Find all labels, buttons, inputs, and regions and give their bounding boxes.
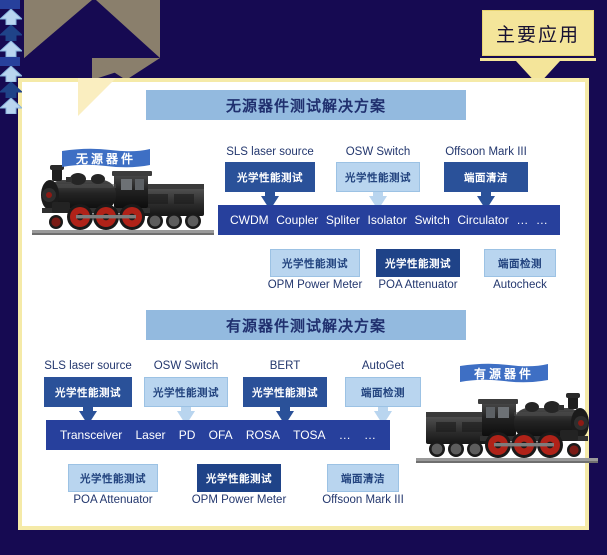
component-active-5: TOSA: [293, 428, 325, 442]
test-box-passive-top-2-label: 端面清洁: [464, 170, 508, 185]
arrow-up-icon: [0, 25, 22, 41]
instrument-caption-bottom-2: Autocheck: [430, 279, 607, 291]
instrument-caption-active-bottom-2: Offsoon Mark III: [273, 494, 453, 506]
test-box-passive-bottom-0[interactable]: 光学性能测试: [270, 249, 360, 277]
bar-connector-active: [0, 57, 20, 66]
test-box-active-top-2[interactable]: 光学性能测试: [243, 377, 327, 407]
test-box-active-top-0[interactable]: 光学性能测试: [44, 377, 132, 407]
component-active-0: Transceiver: [60, 428, 122, 442]
test-box-active-bottom-2-label: 端面清洁: [341, 471, 385, 486]
instrument-caption-offsoon-mark-iii: Offsoon Mark III: [396, 146, 576, 158]
component-active-2: PD: [179, 428, 196, 442]
test-box-active-bottom-2[interactable]: 端面清洁: [327, 464, 399, 492]
component-bar-passive: CWDMCouplerSpliterIsolatorSwitchCirculat…: [218, 205, 560, 235]
test-box-active-top-1-label: 光学性能测试: [153, 385, 219, 400]
diagram-stage: 无源器件测试解决方案: [0, 0, 607, 555]
section-title-passive: 无源器件测试解决方案: [226, 95, 386, 116]
instrument-caption-active-top-3: AutoGet: [293, 360, 473, 372]
component-active-7: …: [364, 428, 376, 442]
arrow-up-icon: [0, 66, 22, 82]
locomotive-tag-active-label: 有源器件: [474, 365, 534, 382]
test-box-passive-bottom-1-label: 光学性能测试: [385, 256, 451, 271]
component-active-4: ROSA: [246, 428, 280, 442]
section-header-passive: 无源器件测试解决方案: [146, 90, 466, 120]
arrow-up-icon: [0, 98, 22, 114]
test-box-passive-bottom-2[interactable]: 端面检测: [484, 249, 556, 277]
locomotive-tag-passive: 无源器件: [60, 147, 152, 169]
section-title-active: 有源器件测试解决方案: [226, 315, 386, 336]
component-6: …: [516, 213, 528, 227]
locomotive-active: [408, 380, 607, 471]
component-4: Switch: [414, 213, 449, 227]
test-box-passive-top-0[interactable]: 光学性能测试: [225, 162, 315, 192]
arrow-up-icon: [0, 41, 22, 57]
test-box-active-bottom-0[interactable]: 光学性能测试: [68, 464, 158, 492]
component-7: …: [536, 213, 548, 227]
test-box-active-top-0-label: 光学性能测试: [55, 385, 121, 400]
test-box-passive-bottom-1[interactable]: 光学性能测试: [376, 249, 460, 277]
test-box-passive-bottom-0-label: 光学性能测试: [282, 256, 348, 271]
test-box-active-top-3-label: 端面检测: [361, 385, 405, 400]
component-active-1: Laser: [135, 428, 165, 442]
component-bar-active: TransceiverLaserPDOFAROSATOSA……: [46, 420, 390, 450]
test-box-active-top-2-label: 光学性能测试: [252, 385, 318, 400]
test-box-active-top-1[interactable]: 光学性能测试: [144, 377, 228, 407]
test-box-active-bottom-1[interactable]: 光学性能测试: [197, 464, 281, 492]
test-box-passive-bottom-2-label: 端面检测: [498, 256, 542, 271]
test-box-passive-top-1[interactable]: 光学性能测试: [336, 162, 420, 192]
locomotive-tag-passive-label: 无源器件: [76, 150, 136, 167]
arrow-up-icon: [0, 82, 22, 98]
test-box-active-bottom-1-label: 光学性能测试: [206, 471, 272, 486]
component-5: Circulator: [457, 213, 508, 227]
test-box-passive-top-2[interactable]: 端面清洁: [444, 162, 528, 192]
test-box-passive-top-0-label: 光学性能测试: [237, 170, 303, 185]
component-3: Isolator: [367, 213, 406, 227]
component-0: CWDM: [230, 213, 269, 227]
section-header-active: 有源器件测试解决方案: [146, 310, 466, 340]
bar-connector-passive: [0, 0, 20, 9]
component-active-6: …: [339, 428, 351, 442]
test-box-active-bottom-0-label: 光学性能测试: [80, 471, 146, 486]
component-1: Coupler: [276, 213, 318, 227]
test-box-active-top-3[interactable]: 端面检测: [345, 377, 421, 407]
arrow-up-icon: [0, 9, 22, 25]
test-box-passive-top-1-label: 光学性能测试: [345, 170, 411, 185]
component-active-3: OFA: [209, 428, 233, 442]
component-2: Spliter: [326, 213, 360, 227]
